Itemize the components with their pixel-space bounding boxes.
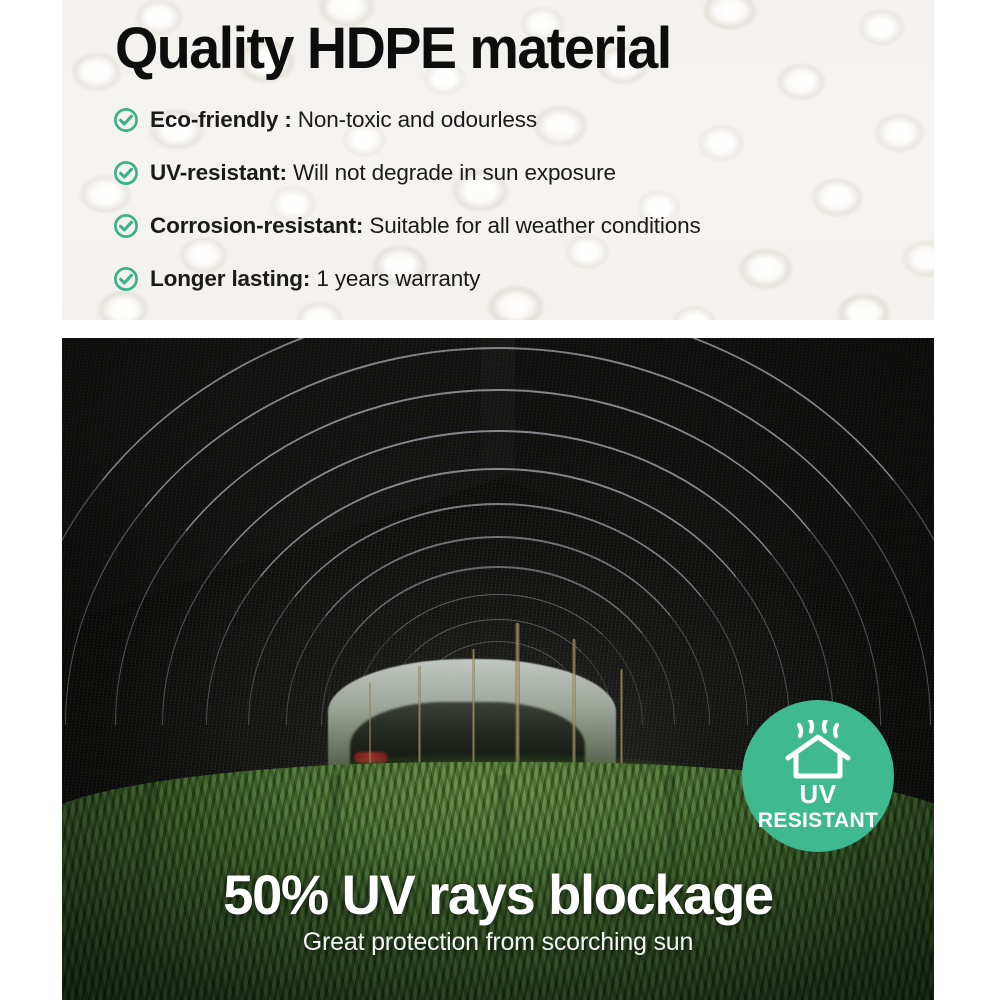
check-circle-icon bbox=[113, 107, 139, 133]
list-item-label: Corrosion-resistant: Suitable for all we… bbox=[150, 213, 701, 239]
top-panel-content: Quality HDPE material Eco-friendly : Non… bbox=[62, 0, 934, 320]
list-item-label: UV-resistant: Will not degrade in sun ex… bbox=[150, 160, 616, 186]
badge-line-2: RESISTANT bbox=[758, 809, 878, 833]
feature-term: Eco-friendly : bbox=[150, 107, 292, 132]
list-item: Corrosion-resistant: Suitable for all we… bbox=[113, 199, 933, 252]
feature-desc: Will not degrade in sun exposure bbox=[293, 160, 616, 185]
blockage-headline: 50% UV rays blockage bbox=[75, 862, 921, 927]
product-feature-image: Quality HDPE material Eco-friendly : Non… bbox=[0, 0, 1000, 1000]
feature-desc: Suitable for all weather conditions bbox=[369, 213, 700, 238]
check-circle-icon bbox=[113, 213, 139, 239]
feature-term: UV-resistant: bbox=[150, 160, 287, 185]
list-item-label: Eco-friendly : Non-toxic and odourless bbox=[150, 107, 537, 133]
list-item: Longer lasting: 1 years warranty bbox=[113, 252, 933, 305]
greenhouse-photo-panel: UV RESISTANT 50% UV rays blockage Great … bbox=[62, 338, 934, 1000]
hdpe-material-panel: Quality HDPE material Eco-friendly : Non… bbox=[62, 0, 934, 320]
list-item: UV-resistant: Will not degrade in sun ex… bbox=[113, 146, 933, 199]
house-with-uv-rays-icon bbox=[780, 720, 856, 781]
blockage-subheadline: Great protection from scorching sun bbox=[62, 928, 934, 957]
list-item-label: Longer lasting: 1 years warranty bbox=[150, 266, 480, 292]
check-circle-icon bbox=[113, 266, 139, 292]
feature-desc: 1 years warranty bbox=[316, 266, 480, 291]
badge-line-1: UV bbox=[799, 781, 836, 809]
page-title: Quality HDPE material bbox=[115, 19, 671, 78]
list-item: Eco-friendly : Non-toxic and odourless bbox=[113, 93, 933, 146]
status-badge: UV RESISTANT bbox=[742, 700, 894, 852]
check-circle-icon bbox=[113, 160, 139, 186]
feature-term: Corrosion-resistant: bbox=[150, 213, 363, 238]
feature-list: Eco-friendly : Non-toxic and odourless U… bbox=[113, 93, 933, 305]
feature-desc: Non-toxic and odourless bbox=[298, 107, 537, 132]
feature-term: Longer lasting: bbox=[150, 266, 310, 291]
